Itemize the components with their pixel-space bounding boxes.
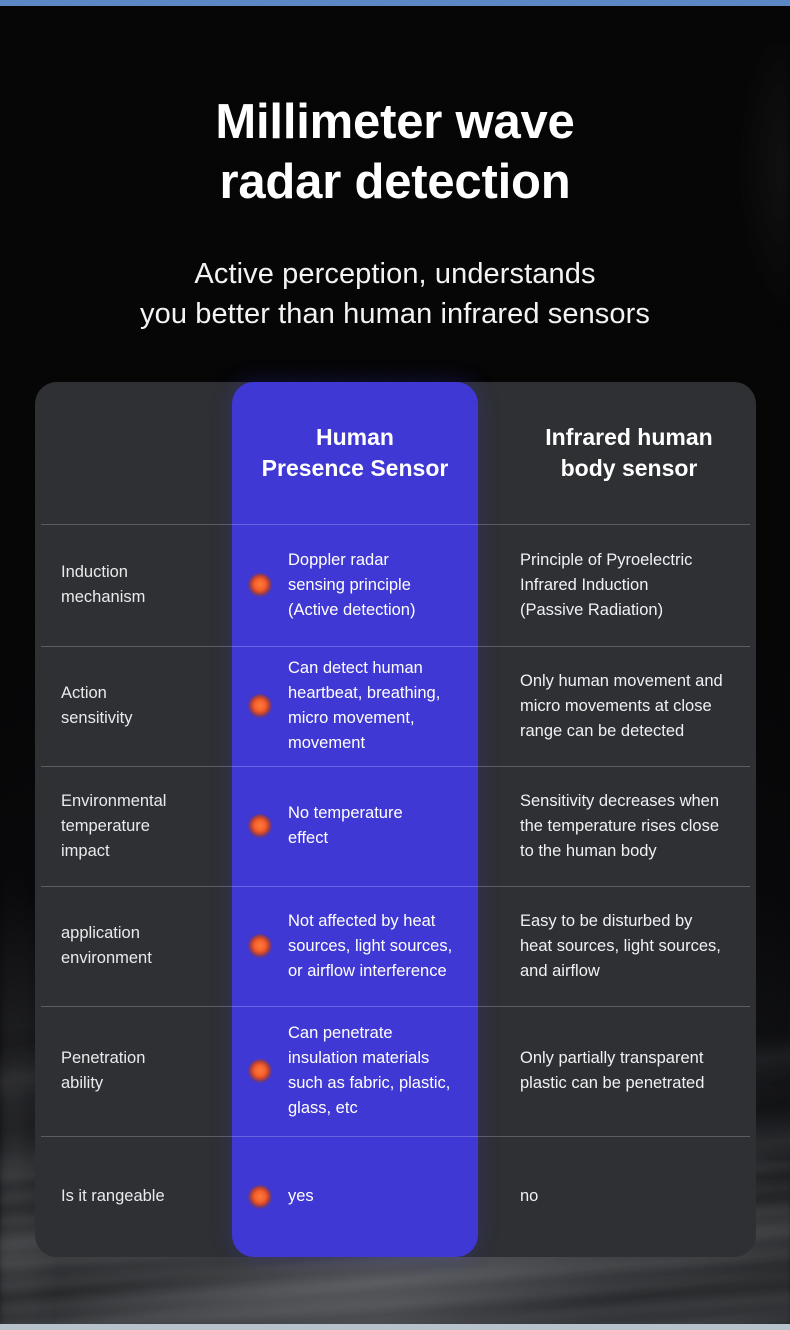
row-plain-text: Sensitivity decreases when the temperatu… [520,789,719,864]
row-plain-cell: Easy to be disturbed by heat sources, li… [478,886,756,1006]
row-feature-label: Action sensitivity [61,681,133,731]
row-feature-label: application environment [61,921,152,971]
comparison-table: Human Presence Sensor Infrared human bod… [35,382,756,1257]
row-plain-text: Only human movement and micro movements … [520,669,723,744]
row-plain-cell: no [478,1136,756,1257]
row-feature-label: Penetration ability [61,1046,145,1096]
row-feature-cell: application environment [35,886,232,1006]
dot-marker-icon [248,814,272,838]
table-header-row: Human Presence Sensor Infrared human bod… [35,382,756,524]
row-highlight-cell: Doppler radar sensing principle (Active … [232,524,478,646]
row-plain-cell: Only human movement and micro movements … [478,646,756,766]
row-feature-label: Environmental temperature impact [61,789,166,864]
dot-marker-icon [248,694,272,718]
table-row: Environmental temperature impact No temp… [35,766,756,886]
row-highlight-text: Not affected by heat sources, light sour… [288,909,452,984]
row-plain-text: no [520,1184,538,1209]
comparison-card: Human Presence Sensor Infrared human bod… [35,382,756,1257]
header-cell-feature [35,382,232,524]
page-subtitle: Active perception, understands you bette… [0,254,790,334]
row-highlight-cell: Can penetrate insulation materials such … [232,1006,478,1136]
row-feature-label: Induction mechanism [61,560,145,610]
row-plain-cell: Only partially transparent plastic can b… [478,1006,756,1136]
row-feature-cell: Induction mechanism [35,524,232,646]
bottom-edge-strip [0,1324,790,1330]
header-cell-infrared-body-sensor: Infrared human body sensor [478,382,756,524]
row-plain-text: Principle of Pyroelectric Infrared Induc… [520,548,692,623]
row-feature-label: Is it rangeable [61,1184,165,1209]
dot-marker-icon [248,934,272,958]
table-row: Is it rangeable yes no [35,1136,756,1257]
row-feature-cell: Environmental temperature impact [35,766,232,886]
top-edge-strip [0,0,790,6]
row-highlight-cell: yes [232,1136,478,1257]
row-highlight-cell: Not affected by heat sources, light sour… [232,886,478,1006]
row-plain-cell: Principle of Pyroelectric Infrared Induc… [478,524,756,646]
row-highlight-cell: Can detect human heartbeat, breathing, m… [232,646,478,766]
dot-marker-icon [248,573,272,597]
table-row: application environment Not affected by … [35,886,756,1006]
row-highlight-text: Doppler radar sensing principle (Active … [288,548,415,623]
dot-marker-icon [248,1059,272,1083]
row-feature-cell: Penetration ability [35,1006,232,1136]
row-highlight-text: Can detect human heartbeat, breathing, m… [288,656,440,756]
row-plain-cell: Sensitivity decreases when the temperatu… [478,766,756,886]
row-highlight-text: yes [288,1184,314,1209]
row-plain-text: Only partially transparent plastic can b… [520,1046,704,1096]
table-row: Induction mechanism Doppler radar sensin… [35,524,756,646]
header-cell-human-presence-sensor: Human Presence Sensor [232,382,478,524]
table-row: Action sensitivity Can detect human hear… [35,646,756,766]
row-feature-cell: Action sensitivity [35,646,232,766]
row-plain-text: Easy to be disturbed by heat sources, li… [520,909,721,984]
row-highlight-text: Can penetrate insulation materials such … [288,1021,450,1121]
page-title: Millimeter wave radar detection [0,92,790,212]
table-row: Penetration ability Can penetrate insula… [35,1006,756,1136]
headings-block: Millimeter wave radar detection Active p… [0,92,790,334]
page-root: Millimeter wave radar detection Active p… [0,0,790,1330]
dot-marker-icon [248,1185,272,1209]
header-highlight-label: Human Presence Sensor [262,422,449,484]
row-feature-cell: Is it rangeable [35,1136,232,1257]
header-plain-label: Infrared human body sensor [545,422,712,484]
row-highlight-cell: No temperature effect [232,766,478,886]
row-highlight-text: No temperature effect [288,801,403,851]
